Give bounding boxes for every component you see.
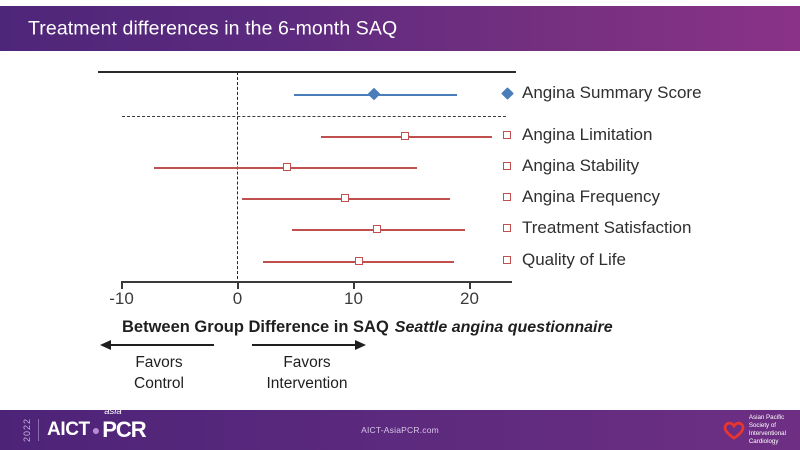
series-row [0, 251, 800, 273]
society-logo: Asian Pacific Society of Interventional … [723, 414, 786, 446]
footer-website-url[interactable]: AICT-AsiaPCR.com [361, 425, 439, 435]
legend-label: Angina Summary Score [522, 83, 702, 103]
legend-label: Angina Stability [522, 156, 639, 176]
legend-item-angina-frequency[interactable]: Angina Frequency [496, 186, 660, 208]
pcr-logo-text: PCR [102, 417, 145, 442]
legend-item-angina-summary-score[interactable]: Angina Summary Score [496, 82, 702, 104]
point-estimate-marker [355, 257, 363, 265]
right-arrow-icon [248, 338, 366, 352]
point-estimate-marker [373, 225, 381, 233]
square-marker-icon [496, 131, 518, 139]
society-line-3: Interventional [749, 430, 786, 438]
society-line-2: Society of [749, 422, 786, 430]
logo-separator-dot: ● [92, 422, 100, 438]
favors-intervention-annotation: Favors Intervention [248, 338, 366, 394]
aict-logo-text: AICT [47, 419, 90, 441]
x-axis-line [122, 281, 512, 283]
footer-brand-logo: 2022 AICT ● asia PCR [22, 417, 146, 443]
point-estimate-marker [283, 163, 291, 171]
pcr-logo: asia PCR [102, 417, 145, 443]
x-tick-label-2: 10 [344, 289, 363, 309]
society-logo-text: Asian Pacific Society of Interventional … [749, 414, 786, 446]
x-tick-label-1: 0 [233, 289, 242, 309]
x-tick-3 [469, 281, 471, 289]
legend-item-quality-of-life[interactable]: Quality of Life [496, 249, 626, 271]
legend-label: Angina Limitation [522, 125, 652, 145]
reference-separator-line [122, 116, 506, 117]
square-marker-icon [496, 224, 518, 232]
legend-label: Quality of Life [522, 250, 626, 270]
series-row [0, 157, 800, 179]
society-line-4: Cardiology [749, 438, 786, 446]
point-estimate-marker [341, 194, 349, 202]
point-estimate-marker [368, 88, 381, 101]
point-estimate-marker [401, 132, 409, 140]
x-tick-label-3: 20 [460, 289, 479, 309]
footer-year: 2022 [22, 418, 32, 442]
heart-icon [723, 419, 745, 441]
legend-item-angina-limitation[interactable]: Angina Limitation [496, 124, 652, 146]
favors-intervention-line1: Favors [248, 354, 366, 373]
x-axis-label: Between Group Difference in SAQ [122, 318, 389, 336]
x-axis-caption: Between Group Difference in SAQSeattle a… [122, 318, 682, 337]
favors-control-line2: Control [100, 375, 218, 394]
x-tick-2 [353, 281, 355, 289]
favors-intervention-line2: Intervention [248, 375, 366, 394]
legend-item-treatment-satisfaction[interactable]: Treatment Satisfaction [496, 217, 691, 239]
square-marker-icon [496, 193, 518, 201]
favors-control-annotation: Favors Control [100, 338, 218, 394]
legend-label: Treatment Satisfaction [522, 218, 691, 238]
series-row [0, 126, 800, 148]
diamond-marker-icon [496, 89, 518, 98]
x-tick-label-0: -10 [109, 289, 134, 309]
footer-divider [38, 419, 39, 441]
x-axis-label-note: Seattle angina questionnaire [395, 319, 613, 336]
slide-footer: 2022 AICT ● asia PCR AICT-AsiaPCR.com As… [0, 410, 800, 450]
x-tick-1 [237, 281, 239, 289]
square-marker-icon [496, 256, 518, 264]
legend-label: Angina Frequency [522, 187, 660, 207]
square-marker-icon [496, 162, 518, 170]
legend-item-angina-stability[interactable]: Angina Stability [496, 155, 639, 177]
series-row [0, 188, 800, 210]
asia-logo-text: asia [104, 406, 121, 417]
left-arrow-icon [100, 338, 218, 352]
plot-top-border [98, 71, 516, 73]
society-line-1: Asian Pacific [749, 414, 786, 422]
favors-control-line1: Favors [100, 354, 218, 373]
x-tick-0 [121, 281, 123, 289]
